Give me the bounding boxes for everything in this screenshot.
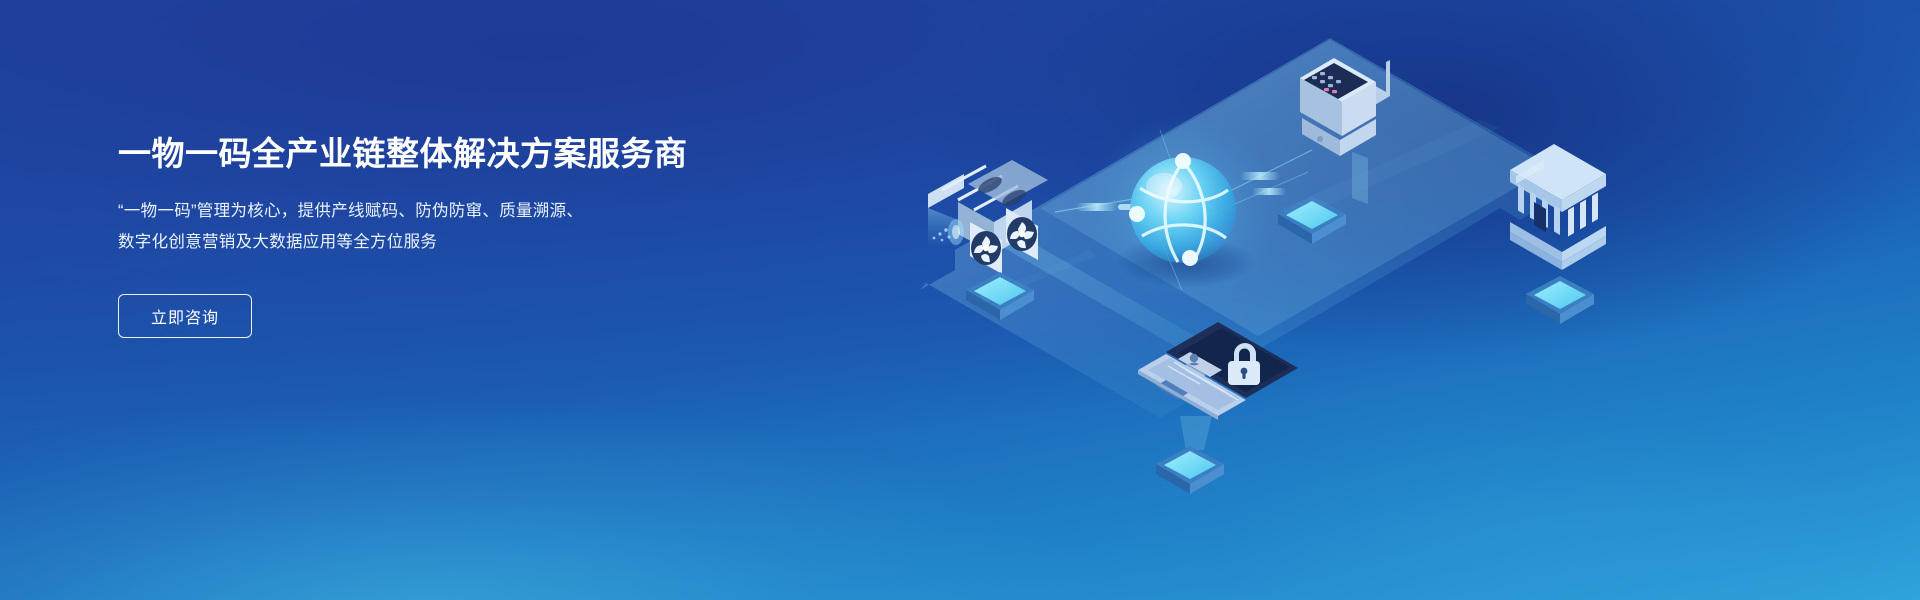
pedestal-bank	[1526, 276, 1594, 324]
hero-banner: 一物一码全产业链整体解决方案服务商 “一物一码”管理为核心，提供产线赋码、防伪防…	[0, 0, 1920, 600]
hero-illustration	[860, 0, 1920, 600]
consult-now-button[interactable]: 立即咨询	[118, 294, 252, 338]
page-title: 一物一码全产业链整体解决方案服务商	[118, 133, 738, 174]
hero-copy-block: 一物一码全产业链整体解决方案服务商 “一物一码”管理为核心，提供产线赋码、防伪防…	[118, 133, 738, 338]
subtitle-line-1: “一物一码”管理为核心，提供产线赋码、防伪防窜、质量溯源、	[118, 196, 738, 227]
hero-subtitle: “一物一码”管理为核心，提供产线赋码、防伪防窜、质量溯源、 数字化创意营销及大数…	[118, 196, 738, 258]
network-sphere-node	[1087, 114, 1279, 306]
pedestal-laptop	[1156, 446, 1224, 494]
subtitle-line-2: 数字化创意营销及大数据应用等全方位服务	[118, 227, 738, 258]
